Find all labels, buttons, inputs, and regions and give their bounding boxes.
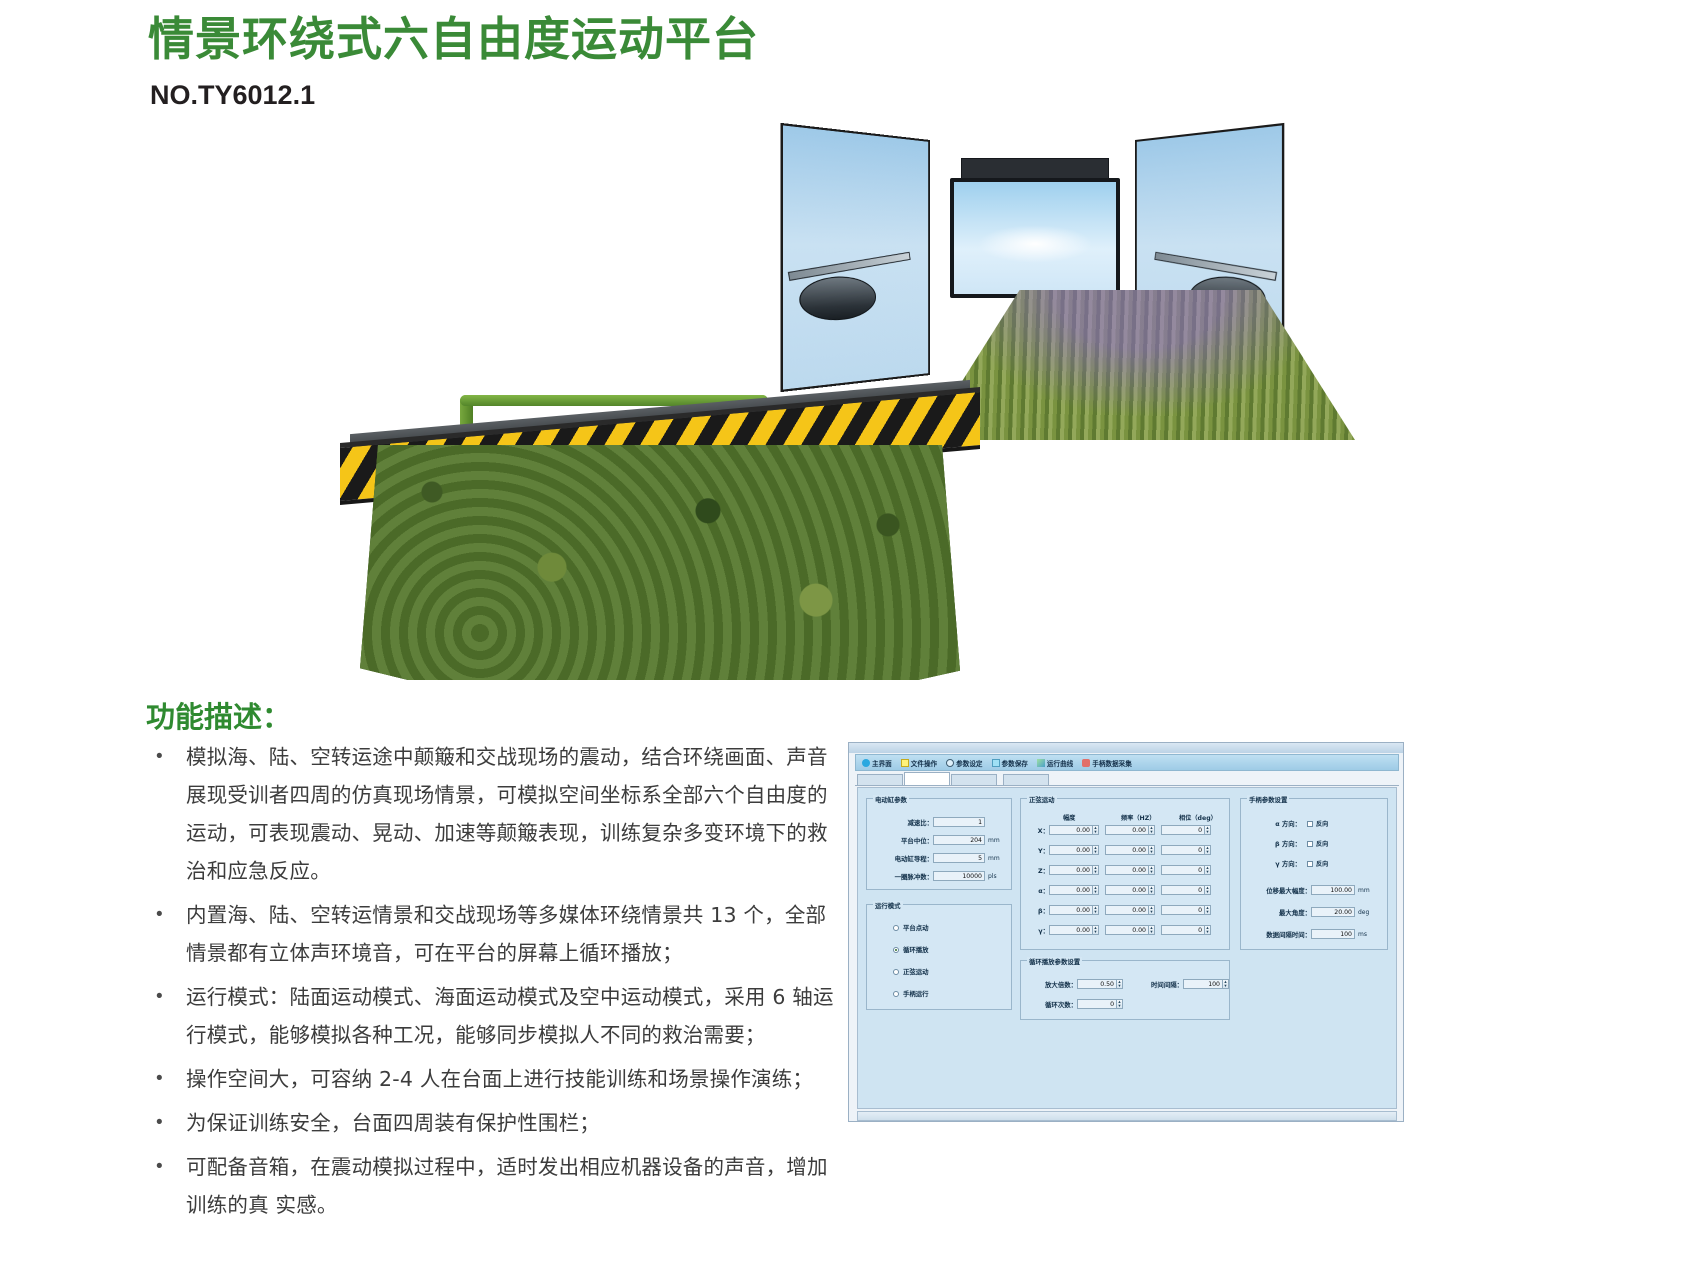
features-heading: 功能描述： [146, 694, 291, 736]
radio-dot [893, 947, 899, 953]
column-header-frequency: 频率（HZ） [1121, 813, 1155, 822]
feature-text: 操作空间大，可容纳 2-4 人在台面上进行技能训练和场景操作演练； [186, 1060, 813, 1098]
group-title: 电动缸参数 [873, 795, 909, 804]
amplitude-stepper[interactable]: ▲▼ [1093, 905, 1099, 915]
checkbox-box [1307, 821, 1313, 827]
feature-text: 内置海、陆、空转运情景和交战现场等多媒体环绕情景共 13 个，全部情景都有立体声… [186, 896, 840, 972]
file-icon [901, 759, 909, 767]
bullet-glyph: • [150, 978, 186, 1054]
field-unit: deg [1358, 909, 1369, 916]
interval-input[interactable]: 100 [1183, 979, 1223, 989]
field-label: 一圈脉冲数： [873, 872, 933, 881]
radio-label: 循环播放 [903, 945, 929, 954]
radio-dot [893, 991, 899, 997]
field-label: 平台中位： [873, 836, 933, 845]
group-title: 循环播放参数设置 [1027, 957, 1082, 966]
toolbar-item-param-save[interactable]: 参数保存 [992, 758, 1028, 768]
frequency-stepper[interactable]: ▲▼ [1149, 865, 1155, 875]
toolbar-item-file[interactable]: 文件操作 [901, 758, 937, 768]
amplitude-input[interactable]: 0.00 [1049, 905, 1093, 915]
bullet-glyph: • [150, 738, 186, 890]
checkbox-gamma-reverse[interactable]: 反向 [1307, 859, 1328, 868]
ratio-input[interactable]: 1 [933, 817, 985, 827]
feature-text: 可配备音箱，在震动模拟过程中，适时发出相应机器设备的声音，增加训练的真 实感。 [186, 1148, 840, 1224]
surround-screens-image [785, 140, 1280, 425]
list-item: • 操作空间大，可容纳 2-4 人在台面上进行技能训练和场景操作演练； [150, 1060, 840, 1098]
motion-platform [340, 385, 980, 680]
lead-input[interactable]: 5 [933, 853, 985, 863]
radio-joystick-run[interactable]: 手柄运行 [893, 989, 929, 998]
field-label: 减速比： [873, 818, 933, 827]
radio-label: 正弦运动 [903, 967, 929, 976]
toolbar-item-param-set[interactable]: 参数设定 [946, 758, 982, 768]
axis-label: X： [1029, 826, 1049, 835]
tab-2-active[interactable] [904, 772, 950, 785]
direction-label: α 方向： [1255, 819, 1301, 828]
field-label: 数据间隔时间： [1247, 930, 1311, 939]
axis-label: β： [1029, 906, 1049, 915]
phase-stepper[interactable]: ▲▼ [1205, 865, 1211, 875]
checkbox-label: 反向 [1316, 859, 1328, 868]
toolbar-label: 主界面 [872, 758, 892, 768]
interval-stepper[interactable]: ▲▼ [1223, 979, 1229, 989]
toolbar-label: 文件操作 [911, 758, 937, 768]
radio-loop-play[interactable]: 循环播放 [893, 945, 929, 954]
phase-input[interactable]: 0 [1161, 905, 1205, 915]
joystick-icon [1082, 759, 1090, 767]
group-title: 运行模式 [873, 901, 903, 910]
bullet-glyph: • [150, 1104, 186, 1142]
center-screen [950, 178, 1120, 298]
list-item: • 模拟海、陆、空转运途中颠簸和交战现场的震动，结合环绕画面、声音展现受训者四周… [150, 738, 840, 890]
phase-input[interactable]: 0 [1161, 845, 1205, 855]
field-label: 放大倍数： [1029, 980, 1077, 989]
checkbox-alpha-reverse[interactable]: 反向 [1307, 819, 1328, 828]
group-run-mode: 运行模式 平台点动 循环播放 正弦运动 [866, 904, 1012, 1010]
field-label: 位移最大幅度： [1247, 886, 1311, 895]
list-item: • 内置海、陆、空转运情景和交战现场等多媒体环绕情景共 13 个，全部情景都有立… [150, 896, 840, 972]
frequency-stepper[interactable]: ▲▼ [1149, 905, 1155, 915]
checkbox-box [1307, 861, 1313, 867]
phase-stepper[interactable]: ▲▼ [1205, 905, 1211, 915]
amplitude-input[interactable]: 0.00 [1049, 925, 1093, 935]
page-root: 情景环绕式六自由度运动平台 NO.TY6012.1 [0, 0, 1700, 1269]
data-interval-input[interactable]: 100 [1311, 929, 1355, 939]
field-unit: mm [1358, 887, 1370, 894]
list-item: • 运行模式：陆面运动模式、海面运动模式及空中运动模式，采用 6 轴运行模式，能… [150, 978, 840, 1054]
toolbar-label: 运行曲线 [1047, 758, 1073, 768]
tab-strip [855, 772, 1399, 786]
feature-text: 为保证训练安全，台面四周装有保护性围栏； [186, 1104, 600, 1142]
radio-dot [893, 925, 899, 931]
amplitude-input[interactable]: 0.00 [1049, 825, 1093, 835]
field-unit: mm [988, 837, 1000, 844]
page-right-margin [1694, 740, 1700, 1170]
list-item: • 为保证训练安全，台面四周装有保护性围栏； [150, 1104, 840, 1142]
product-photo [300, 125, 1300, 680]
phase-input[interactable]: 0 [1161, 885, 1205, 895]
left-screen [781, 123, 930, 392]
save-icon [992, 759, 1000, 767]
phase-stepper[interactable]: ▲▼ [1205, 925, 1211, 935]
field-label: 循环次数： [1029, 1000, 1077, 1009]
amplitude-input[interactable]: 0.00 [1049, 865, 1093, 875]
jet-engine-shape [799, 276, 876, 322]
field-label: 电动缸导程： [873, 854, 933, 863]
checkbox-label: 反向 [1316, 839, 1328, 848]
toolbar-item-main[interactable]: 主界面 [862, 758, 892, 768]
pulses-per-rev-input[interactable]: 10000 [933, 871, 985, 881]
field-unit: pls [988, 873, 997, 880]
group-loop-params: 循环播放参数设置 放大倍数： 0.50 ▲▼ 时间间隔： 100 ▲▼ 循环次数… [1020, 960, 1230, 1020]
group-title: 正弦运动 [1027, 795, 1057, 804]
page-title: 情景环绕式六自由度运动平台 [148, 14, 759, 65]
tab-1[interactable] [857, 774, 903, 785]
toolbar-label: 参数设定 [956, 758, 982, 768]
frequency-input[interactable]: 0.00 [1105, 905, 1149, 915]
amplitude-stepper[interactable]: ▲▼ [1093, 845, 1099, 855]
magnification-input[interactable]: 0.50 [1077, 979, 1117, 989]
axis-label: Y： [1029, 846, 1049, 855]
field-label: 时间间隔： [1131, 980, 1183, 989]
direction-label: β 方向： [1255, 839, 1301, 848]
radio-dot [893, 969, 899, 975]
checkbox-label: 反向 [1316, 819, 1328, 828]
phase-input[interactable]: 0 [1161, 925, 1205, 935]
column-header-amplitude: 幅度 [1063, 813, 1075, 822]
bullet-glyph: • [150, 1148, 186, 1224]
bullet-glyph: • [150, 896, 186, 972]
tab-4[interactable] [1003, 774, 1049, 785]
phase-stepper[interactable]: ▲▼ [1205, 885, 1211, 895]
workspace: 电动缸参数 减速比： 1 平台中位： 204 mm 电动缸导程： 5 mm 一圈… [857, 787, 1397, 1109]
frequency-stepper[interactable]: ▲▼ [1149, 885, 1155, 895]
frequency-stepper[interactable]: ▲▼ [1149, 825, 1155, 835]
axis-label: γ： [1029, 926, 1049, 935]
axis-label: Z： [1029, 866, 1049, 875]
phase-stepper[interactable]: ▲▼ [1205, 845, 1211, 855]
home-icon [862, 759, 870, 767]
radio-label: 平台点动 [903, 923, 929, 932]
amplitude-input[interactable]: 0.00 [1049, 885, 1093, 895]
group-sine-motion: 正弦运动 幅度 频率（HZ） 相位（deg） X： 0.00 ▲▼ 0.00 ▲… [1020, 798, 1230, 950]
loop-count-stepper[interactable]: ▲▼ [1117, 999, 1123, 1009]
column-header-phase: 相位（deg） [1179, 813, 1217, 822]
radio-label: 手柄运行 [903, 989, 929, 998]
tab-3[interactable] [951, 774, 997, 785]
control-software-screenshot: 主界面 文件操作 参数设定 参数保存 运行曲线 手柄数据采集 [848, 742, 1404, 1122]
amplitude-stepper[interactable]: ▲▼ [1093, 885, 1099, 895]
magnification-stepper[interactable]: ▲▼ [1117, 979, 1123, 989]
axis-label: α： [1029, 886, 1049, 895]
checkbox-box [1307, 841, 1313, 847]
grass-floor-projection [925, 290, 1355, 440]
group-cylinder-params: 电动缸参数 减速比： 1 平台中位： 204 mm 电动缸导程： 5 mm 一圈… [866, 798, 1012, 890]
frequency-input[interactable]: 0.00 [1105, 885, 1149, 895]
toolbar-item-joystick-capture[interactable]: 手柄数据采集 [1082, 758, 1132, 768]
field-label: 最大角度： [1247, 908, 1311, 917]
group-handle-params: 手柄参数设置 α 方向： 反向 β 方向： 反向 γ 方向： [1240, 798, 1388, 950]
frequency-stepper[interactable]: ▲▼ [1149, 925, 1155, 935]
phase-input[interactable]: 0 [1161, 865, 1205, 875]
window-titlebar [849, 743, 1403, 753]
amplitude-stepper[interactable]: ▲▼ [1093, 925, 1099, 935]
camouflage-skirt [360, 445, 960, 680]
toolbar-label: 参数保存 [1002, 758, 1028, 768]
feature-text: 运行模式：陆面运动模式、海面运动模式及空中运动模式，采用 6 轴运行模式，能够模… [186, 978, 840, 1054]
features-list: • 模拟海、陆、空转运途中颠簸和交战现场的震动，结合环绕画面、声音展现受训者四周… [150, 738, 840, 1230]
platform-center-input[interactable]: 204 [933, 835, 985, 845]
frequency-input[interactable]: 0.00 [1105, 865, 1149, 875]
loop-count-input[interactable]: 0 [1077, 999, 1117, 1009]
amplitude-stepper[interactable]: ▲▼ [1093, 865, 1099, 875]
amplitude-input[interactable]: 0.00 [1049, 845, 1093, 855]
field-unit: ms [1358, 931, 1367, 938]
frequency-input[interactable]: 0.00 [1105, 825, 1149, 835]
toolbar-item-run-curve[interactable]: 运行曲线 [1037, 758, 1073, 768]
max-displacement-input[interactable]: 100.00 [1311, 885, 1355, 895]
amplitude-stepper[interactable]: ▲▼ [1093, 825, 1099, 835]
feature-text: 模拟海、陆、空转运途中颠簸和交战现场的震动，结合环绕画面、声音展现受训者四周的仿… [186, 738, 840, 890]
direction-label: γ 方向： [1255, 859, 1301, 868]
status-bar [857, 1111, 1397, 1121]
list-item: • 可配备音箱，在震动模拟过程中，适时发出相应机器设备的声音，增加训练的真 实感… [150, 1148, 840, 1224]
group-title: 手柄参数设置 [1247, 795, 1289, 804]
radio-platform-jog[interactable]: 平台点动 [893, 923, 929, 932]
curve-icon [1037, 759, 1045, 767]
frequency-input[interactable]: 0.00 [1105, 845, 1149, 855]
phase-input[interactable]: 0 [1161, 825, 1205, 835]
frequency-stepper[interactable]: ▲▼ [1149, 845, 1155, 855]
gear-icon [946, 759, 954, 767]
field-unit: mm [988, 855, 1000, 862]
center-frame [961, 158, 1109, 180]
frequency-input[interactable]: 0.00 [1105, 925, 1149, 935]
app-toolbar: 主界面 文件操作 参数设定 参数保存 运行曲线 手柄数据采集 [855, 754, 1399, 771]
toolbar-label: 手柄数据采集 [1092, 758, 1132, 768]
max-angle-input[interactable]: 20.00 [1311, 907, 1355, 917]
checkbox-beta-reverse[interactable]: 反向 [1307, 839, 1328, 848]
phase-stepper[interactable]: ▲▼ [1205, 825, 1211, 835]
radio-sine-motion[interactable]: 正弦运动 [893, 967, 929, 976]
model-number: NO.TY6012.1 [150, 80, 315, 111]
bullet-glyph: • [150, 1060, 186, 1098]
